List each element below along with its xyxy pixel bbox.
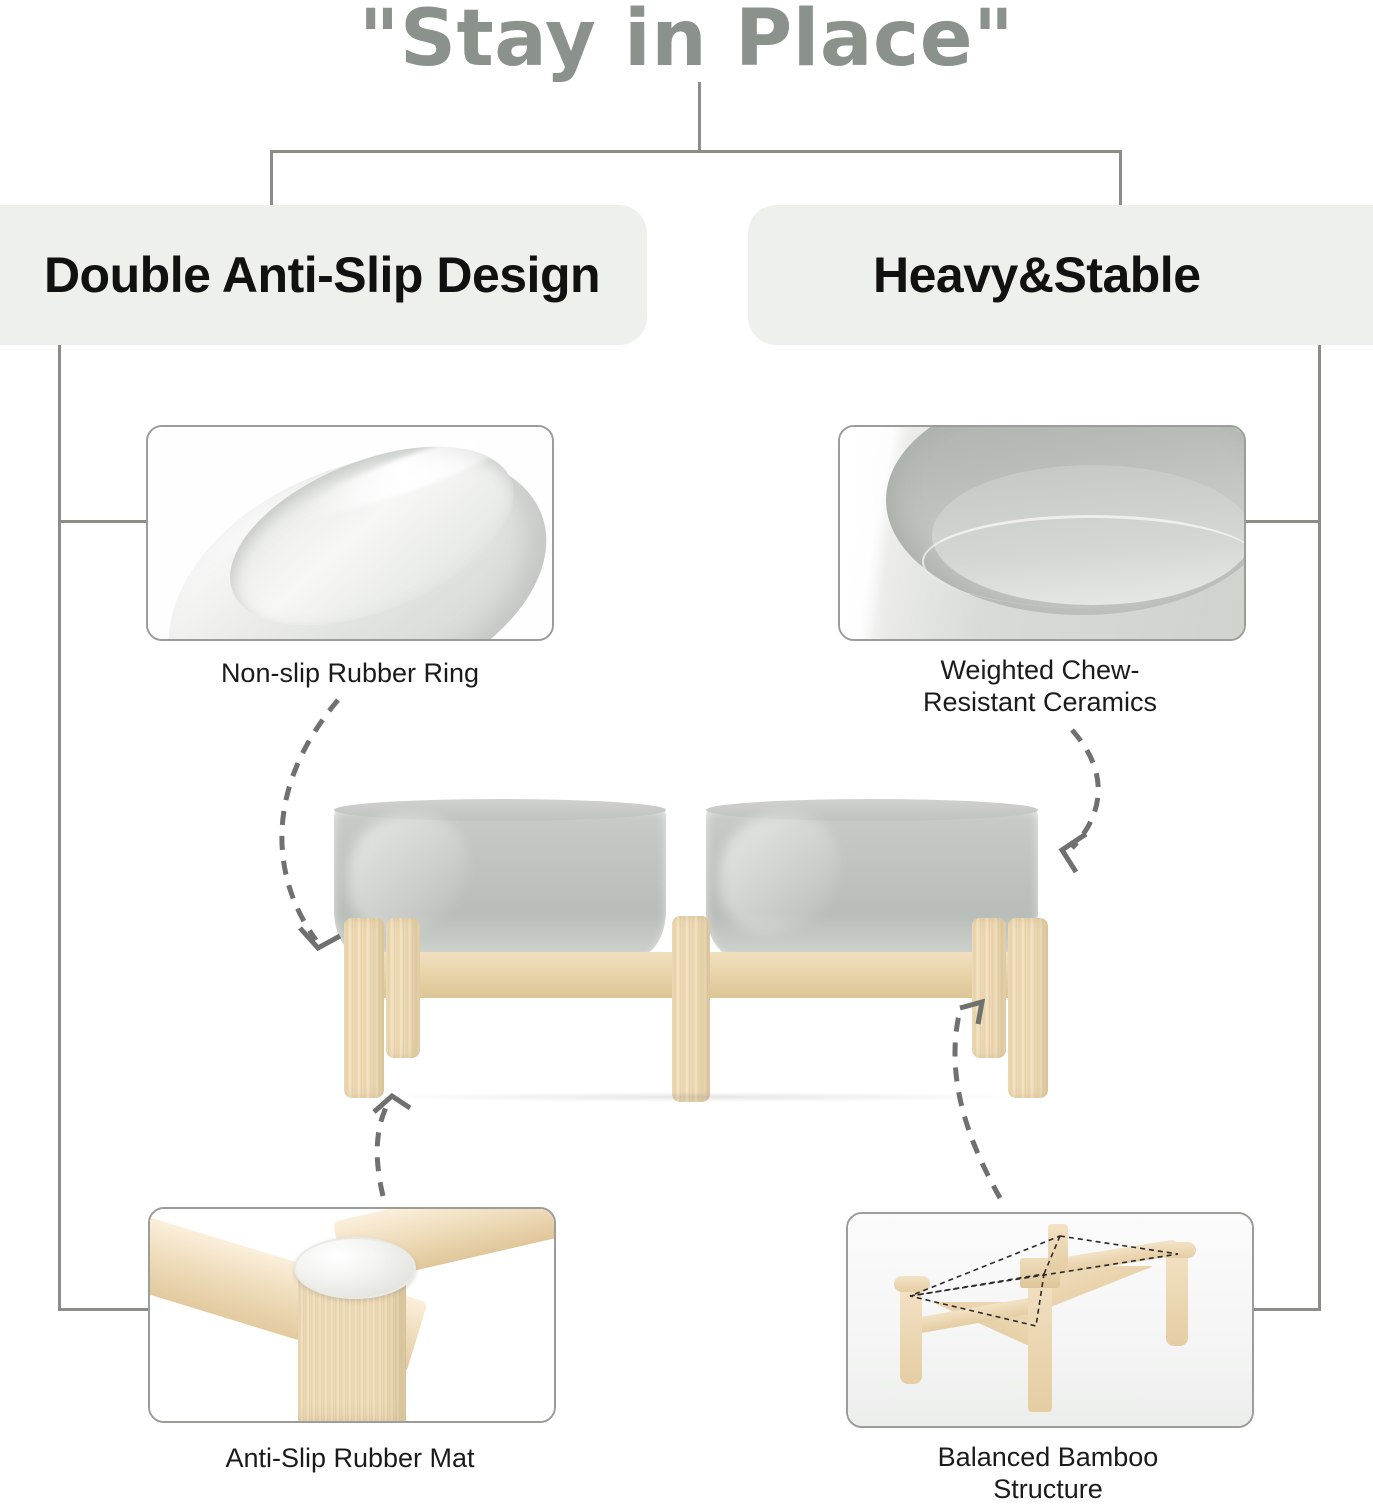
header-label-heavy-stable: Heavy&Stable (873, 246, 1201, 304)
feature-caption-anti-slip-rubber-mat: Anti-Slip Rubber Mat (148, 1443, 552, 1475)
feature-card-balanced-bamboo-structure (846, 1212, 1254, 1428)
tree-branch-right (1119, 150, 1122, 208)
rubber-pad (294, 1237, 416, 1299)
feature-card-non-slip-rubber-ring (146, 425, 554, 641)
page-title: "Stay in Place" (0, 0, 1373, 84)
left-spine-line (58, 345, 61, 1311)
infographic-canvas: "Stay in Place" Double Anti-Slip Design … (0, 0, 1373, 1500)
product-floor-shadow (380, 1092, 1020, 1102)
header-label-double-anti-slip: Double Anti-Slip Design (44, 246, 600, 304)
header-pill-heavy-stable: Heavy&Stable (748, 205, 1373, 345)
stand-post-outer-left (344, 918, 384, 1098)
feature-caption-non-slip-rubber-ring: Non-slip Rubber Ring (148, 658, 552, 690)
tree-branch-left (270, 150, 273, 208)
title-stem-line (698, 82, 701, 152)
right-spine-connector-bottom (1248, 1308, 1321, 1311)
feature-card-anti-slip-rubber-mat (148, 1207, 556, 1423)
header-pill-double-anti-slip: Double Anti-Slip Design (0, 205, 647, 345)
caption-line-1: Anti-Slip Rubber Mat (148, 1443, 552, 1475)
stand-post-outer-right (1008, 918, 1048, 1098)
bowl-rim-photo (148, 427, 552, 639)
stand-post-inner-right (972, 918, 1006, 1058)
bamboo-leg-rubber-pad-photo (150, 1209, 554, 1421)
bamboo-stand-photo (848, 1214, 1252, 1426)
stand-post-inner-left (386, 918, 420, 1058)
right-spine-line (1318, 345, 1321, 1311)
tree-horizontal-bar (270, 150, 1122, 153)
bowl-edge-highlight (840, 427, 886, 639)
left-spine-connector-bottom (58, 1308, 152, 1311)
right-spine-connector-top (1240, 520, 1321, 523)
caption-line-2: Structure (846, 1474, 1250, 1506)
stand-post-center (672, 916, 710, 1102)
bowl-left-sheen (348, 814, 468, 934)
arrow-path-rubber-mat (377, 1100, 390, 1196)
left-spine-connector-top (58, 520, 150, 523)
caption-line-2: Resistant Ceramics (838, 687, 1242, 719)
caption-line-1: Non-slip Rubber Ring (148, 658, 552, 690)
bowl-inner-rim-line (922, 515, 1246, 608)
bowl-right-sheen (720, 814, 840, 934)
bowl-interior-photo (840, 427, 1244, 639)
caption-line-1: Weighted Chew- (838, 655, 1242, 687)
balance-triangle-overlay (848, 1214, 1252, 1426)
caption-line-1: Balanced Bamboo (846, 1442, 1250, 1474)
feature-card-weighted-ceramics (838, 425, 1246, 641)
product-photo-elevated-double-pet-bowl (320, 800, 1080, 1100)
feature-caption-weighted-ceramics: Weighted Chew- Resistant Ceramics (838, 655, 1242, 719)
feature-caption-balanced-bamboo-structure: Balanced Bamboo Structure (846, 1442, 1250, 1506)
